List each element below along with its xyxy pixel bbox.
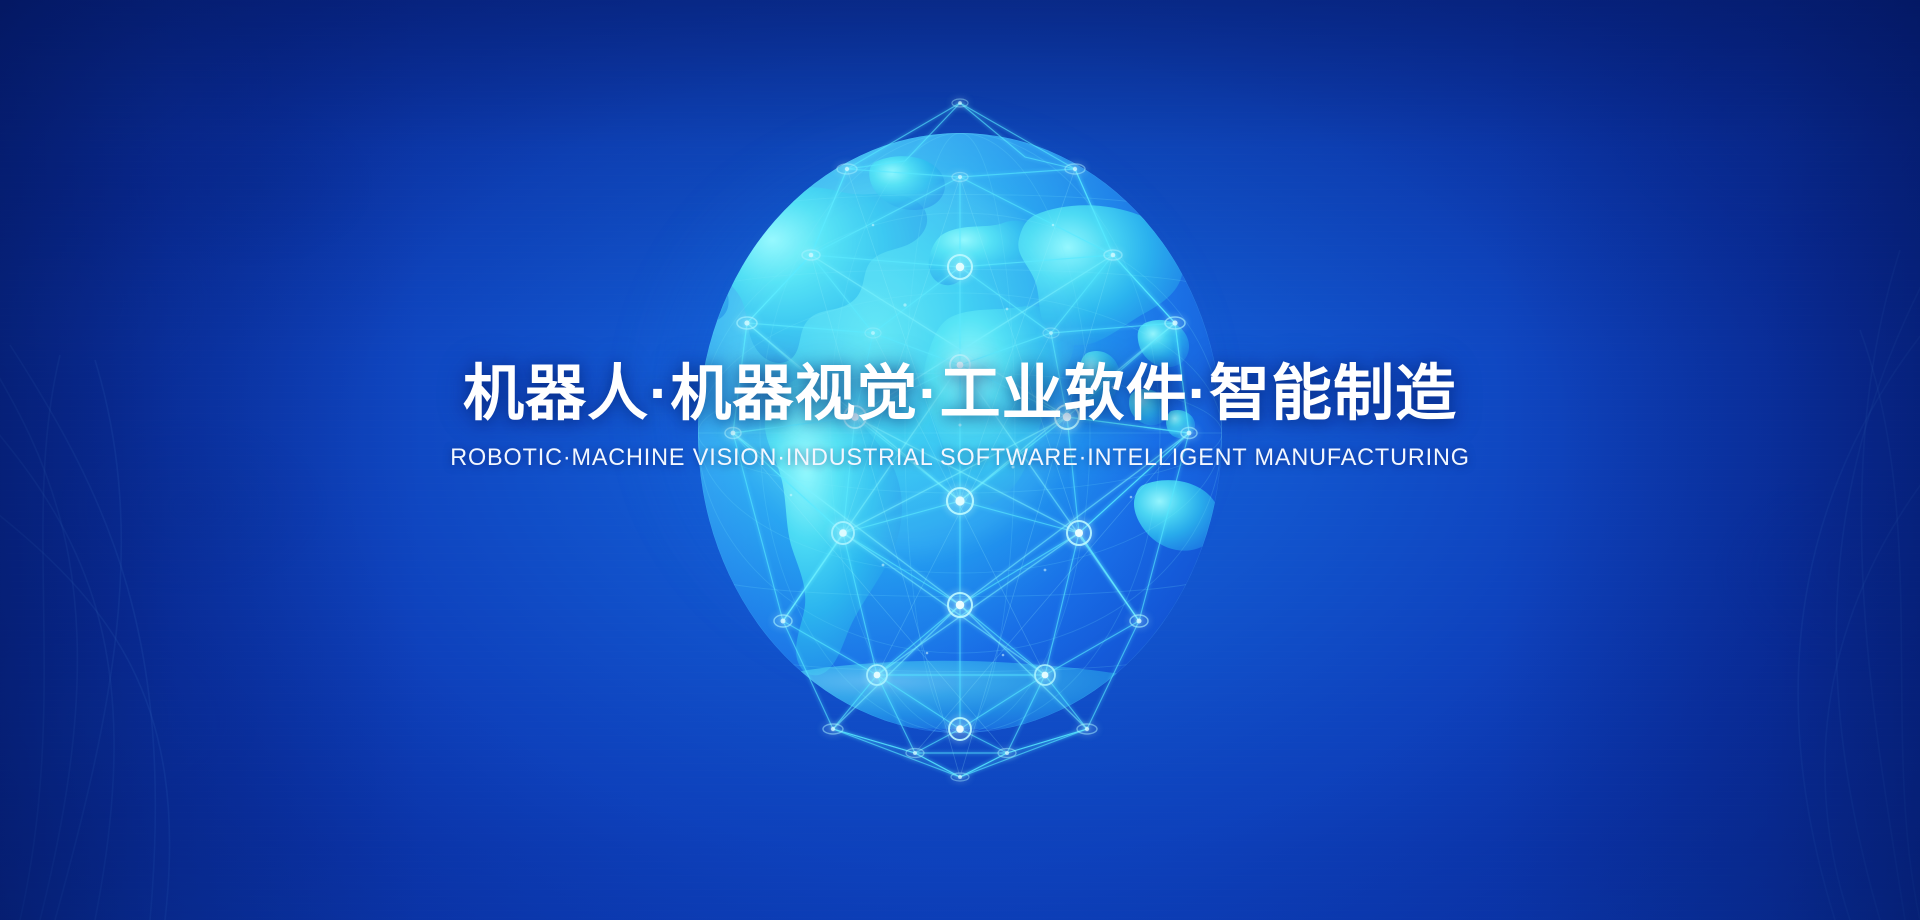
hero-banner: 机器人·机器视觉·工业软件·智能制造 ROBOTIC·MACHINE VISIO… (0, 0, 1920, 920)
page-subtitle: ROBOTIC·MACHINE VISION·INDUSTRIAL SOFTWA… (43, 443, 1877, 473)
page-title: 机器人·机器视觉·工业软件·智能制造 (0, 358, 1920, 428)
